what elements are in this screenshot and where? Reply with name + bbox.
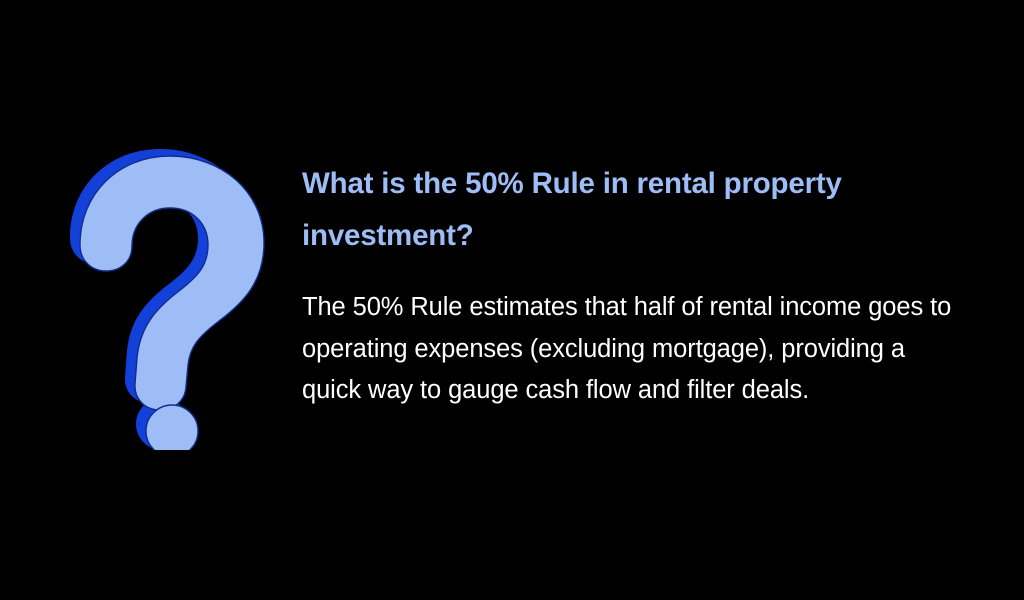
faq-text-column: What is the 50% Rule in rental property …: [302, 158, 962, 412]
question-mark-icon: [62, 140, 282, 450]
faq-card: What is the 50% Rule in rental property …: [0, 0, 1024, 600]
faq-question-heading: What is the 50% Rule in rental property …: [302, 158, 947, 262]
question-mark-illustration: [62, 140, 282, 450]
question-mark-front-layer: [80, 156, 264, 450]
faq-answer-text: The 50% Rule estimates that half of rent…: [302, 262, 952, 412]
